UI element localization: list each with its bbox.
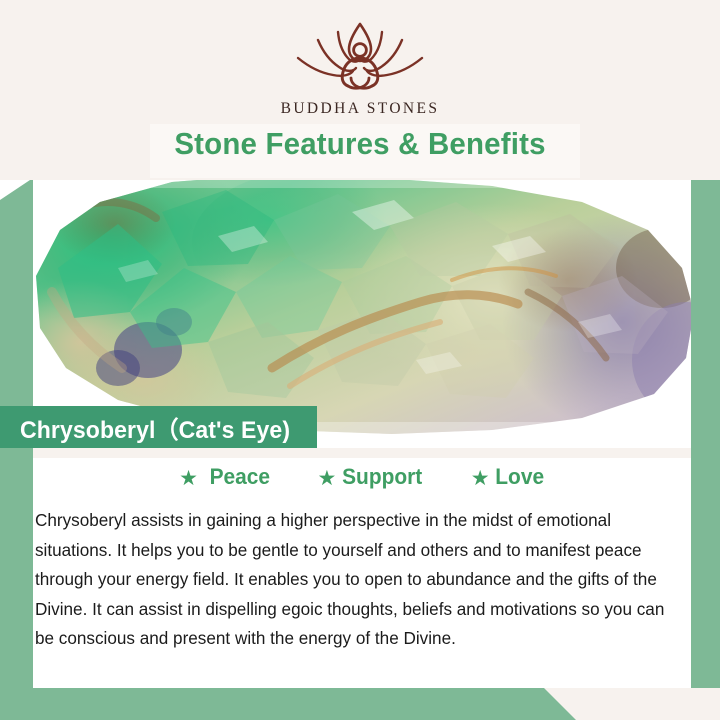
content-top-strip [33,448,691,458]
benefit-label: Love [495,464,544,490]
lotus-meditation-icon [285,18,435,96]
star-icon: ★ [318,468,337,489]
content-panel: ★ Peace ★ Support ★ Love Chrysoberyl ass… [33,448,691,688]
stone-name-banner: Chrysoberyl（Cat's Eye) [0,406,317,448]
benefit-label: Peace [210,464,270,490]
benefit-label: Support [342,464,422,490]
brand-logo: BUDDHA STONES [0,18,720,118]
stone-name-label: Chrysoberyl（Cat's Eye) [20,410,290,445]
stone-photo [22,178,698,440]
star-icon: ★ [471,468,490,489]
stone-photo-illustration [22,178,698,440]
benefits-row: ★ Peace ★ Support ★ Love [33,464,691,490]
stone-description: Chrysoberyl assists in gaining a higher … [33,506,667,654]
star-icon: ★ [179,468,198,489]
brand-name: BUDDHA STONES [0,100,720,118]
header: BUDDHA STONES Stone Features & Benefits [0,0,720,180]
frame-border-right [691,120,720,688]
benefit-item-support: ★ Support [318,464,425,490]
page-title: Stone Features & Benefits [18,126,702,162]
benefit-item-peace: ★ Peace [179,464,271,490]
benefit-item-love: ★ Love [471,464,545,490]
stone-features-infographic: BUDDHA STONES Stone Features & Benefits … [0,0,720,720]
